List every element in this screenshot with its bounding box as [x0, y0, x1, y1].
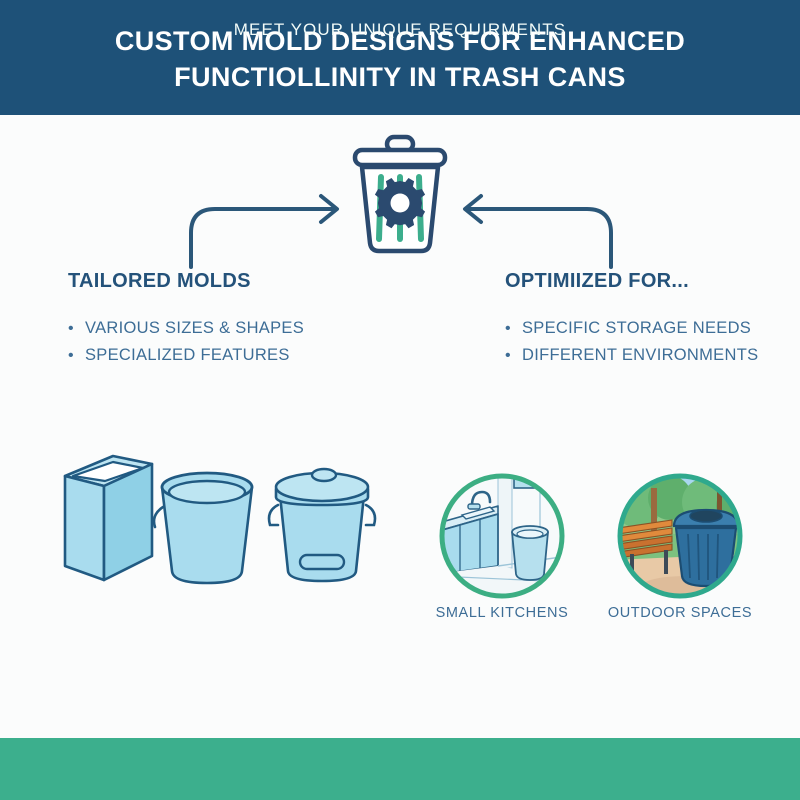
column-optimized-for: OPTIMIIZED FOR... SPECIFIC STORAGE NEEDS… — [505, 270, 800, 369]
column-heading: TAILORED MOLDS — [68, 270, 368, 293]
infographic-canvas: CUSTOM MOLD DESIGNS FOR ENHANCED FUNCTIO… — [0, 0, 800, 800]
curved-arrow-right-icon — [185, 185, 350, 270]
footer-tagline: MEET YOUR UNIQUE REQUIRMENTS — [0, 20, 800, 40]
footer-band — [0, 738, 800, 800]
bullet-list: SPECIFIC STORAGE NEEDS DIFFERENT ENVIRON… — [505, 315, 800, 369]
scene-caption-outdoor-spaces: OUTDOOR SPACES — [585, 605, 775, 621]
column-tailored-molds: TAILORED MOLDS VARIOUS SIZES & SHAPES SP… — [68, 270, 368, 369]
round-bin-icon — [145, 465, 270, 590]
bullet-item: DIFFERENT ENVIRONMENTS — [505, 342, 800, 369]
scene-caption-small-kitchens: SMALL KITCHENS — [407, 605, 597, 621]
curved-arrow-left-icon — [452, 185, 617, 270]
page-title-line-2: FUNCTIOLLINITY IN TRASH CANS — [60, 59, 740, 95]
bullet-list: VARIOUS SIZES & SHAPES SPECIALIZED FEATU… — [68, 315, 368, 369]
bullet-item: SPECIALIZED FEATURES — [68, 342, 368, 369]
bullet-item: SPECIFIC STORAGE NEEDS — [505, 315, 800, 342]
park-scene-icon — [614, 470, 746, 602]
column-heading: OPTIMIIZED FOR... — [505, 270, 800, 293]
lidded-bin-icon — [262, 455, 382, 590]
bullet-item: VARIOUS SIZES & SHAPES — [68, 315, 368, 342]
trash-can-with-gear-icon — [338, 133, 462, 255]
kitchen-scene-icon — [436, 470, 568, 602]
